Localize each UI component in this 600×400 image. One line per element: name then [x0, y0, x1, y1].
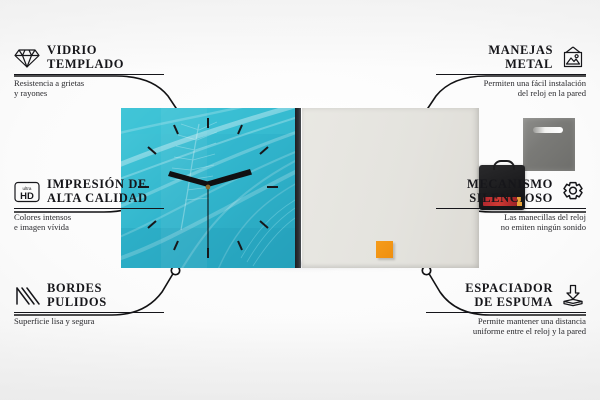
feature-title: ESPACIADOR DE ESPUMA	[465, 282, 553, 309]
tick-10	[148, 147, 156, 154]
title-underline	[436, 74, 586, 75]
gear-icon	[560, 180, 586, 204]
product-image	[121, 108, 479, 268]
feature-title: MANEJAS METAL	[488, 44, 553, 71]
feature-header: ultra HD IMPRESIÓN DE ALTA CALIDAD	[14, 178, 164, 205]
clock-hands	[168, 169, 252, 249]
feature-description: Permite mantener una distancia uniforme …	[426, 316, 586, 337]
feature-title: MECANISMO SILENCIOSO	[467, 178, 553, 205]
feature-vidrio-templado: VIDRIO TEMPLADO Resistencia a grietas y …	[14, 44, 164, 99]
mechanism-hanging-loop	[493, 160, 515, 170]
feature-description: Colores intensos e imagen vívida	[14, 212, 164, 233]
feature-title: IMPRESIÓN DE ALTA CALIDAD	[47, 178, 148, 205]
title-underline	[426, 312, 586, 313]
feature-header: MECANISMO SILENCIOSO	[436, 178, 586, 205]
feature-bordes-pulidos: BORDES PULIDOS Superficie lisa y segura	[14, 282, 164, 326]
feature-description: Permiten una fácil instalación del reloj…	[436, 78, 586, 99]
hd-label: HD	[20, 191, 34, 202]
tick-1	[238, 125, 242, 134]
diagonal-lines-icon	[14, 285, 40, 307]
tick-2	[260, 147, 268, 154]
title-underline	[436, 208, 586, 209]
title-underline	[14, 74, 164, 75]
feature-description: Superficie lisa y segura	[14, 316, 164, 326]
feature-manejas-metal: MANEJAS METAL Permiten una fácil instala…	[436, 44, 586, 99]
title-underline	[14, 312, 164, 313]
tick-5	[238, 241, 242, 250]
ultra-hd-icon: ultra HD	[14, 181, 40, 203]
hands-center-cap	[206, 185, 211, 190]
feature-description: Resistencia a grietas y rayones	[14, 78, 164, 99]
minute-hand	[207, 169, 252, 187]
feature-description: Las manecillas del reloj no emiten ningú…	[436, 212, 586, 233]
orange-foam-spacer	[376, 241, 393, 258]
feature-header: VIDRIO TEMPLADO	[14, 44, 164, 71]
title-underline	[14, 208, 164, 209]
tick-4	[260, 221, 268, 228]
hour-hand	[168, 171, 210, 187]
feature-mecanismo-silencioso: MECANISMO SILENCIOSO Las manecillas del …	[436, 178, 586, 233]
feature-impresion-alta-calidad: ultra HD IMPRESIÓN DE ALTA CALIDAD Color…	[14, 178, 164, 233]
tick-11	[174, 125, 178, 134]
press-down-foam-icon	[560, 284, 586, 308]
feature-espaciador-espuma: ESPACIADOR DE ESPUMA Permite mantener un…	[426, 282, 586, 337]
infographic-canvas: VIDRIO TEMPLADO Resistencia a grietas y …	[0, 0, 600, 400]
diamond-icon	[14, 47, 40, 69]
feature-header: BORDES PULIDOS	[14, 282, 164, 309]
framed-picture-icon	[560, 46, 586, 70]
hanger-keyhole-slot	[533, 127, 563, 133]
feature-title: VIDRIO TEMPLADO	[47, 44, 124, 71]
feature-title: BORDES PULIDOS	[47, 282, 107, 309]
feature-header: MANEJAS METAL	[436, 44, 586, 71]
feature-header: ESPACIADOR DE ESPUMA	[426, 282, 586, 309]
glass-edge	[295, 108, 301, 268]
metal-hanger-plate	[523, 118, 575, 171]
tick-7	[174, 241, 178, 250]
